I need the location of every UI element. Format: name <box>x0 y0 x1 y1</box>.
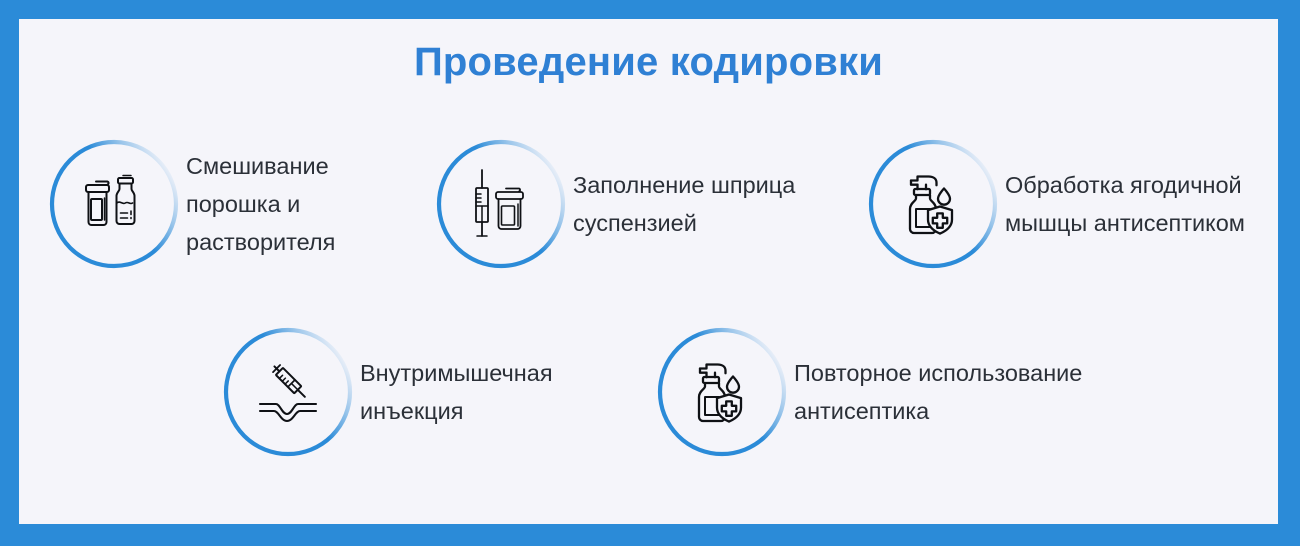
two-vials-icon <box>78 168 150 240</box>
step-4-label: Внутримышечная инъекция <box>360 354 585 430</box>
page-title: Проведение кодировки <box>19 40 1278 85</box>
antiseptic-shield-icon <box>897 168 969 240</box>
step-5-label: Повторное использование антисептика <box>794 354 1124 430</box>
step-2-label: Заполнение шприца суспензией <box>573 166 823 242</box>
step-item-1[interactable]: Смешивание порошка и растворителя <box>48 138 371 270</box>
step-1-circle <box>48 138 180 270</box>
step-item-5[interactable]: Повторное использование антисептика <box>656 326 1124 458</box>
syringe-and-vial-icon <box>465 168 537 240</box>
step-3-label: Обработка ягодичной мышцы антисептиком <box>1005 166 1267 242</box>
step-1-label: Смешивание порошка и растворителя <box>186 147 371 261</box>
step-3-circle <box>867 138 999 270</box>
step-4-circle <box>222 326 354 458</box>
content-panel: Проведение кодировки <box>19 19 1278 524</box>
antiseptic-shield-icon <box>686 356 758 428</box>
step-item-2[interactable]: Заполнение шприца суспензией <box>435 138 823 270</box>
step-5-circle <box>656 326 788 458</box>
infographic-frame: Проведение кодировки <box>0 0 1300 546</box>
intramuscular-injection-icon <box>252 356 324 428</box>
step-2-circle <box>435 138 567 270</box>
step-item-4[interactable]: Внутримышечная инъекция <box>222 326 585 458</box>
step-item-3[interactable]: Обработка ягодичной мышцы антисептиком <box>867 138 1267 270</box>
